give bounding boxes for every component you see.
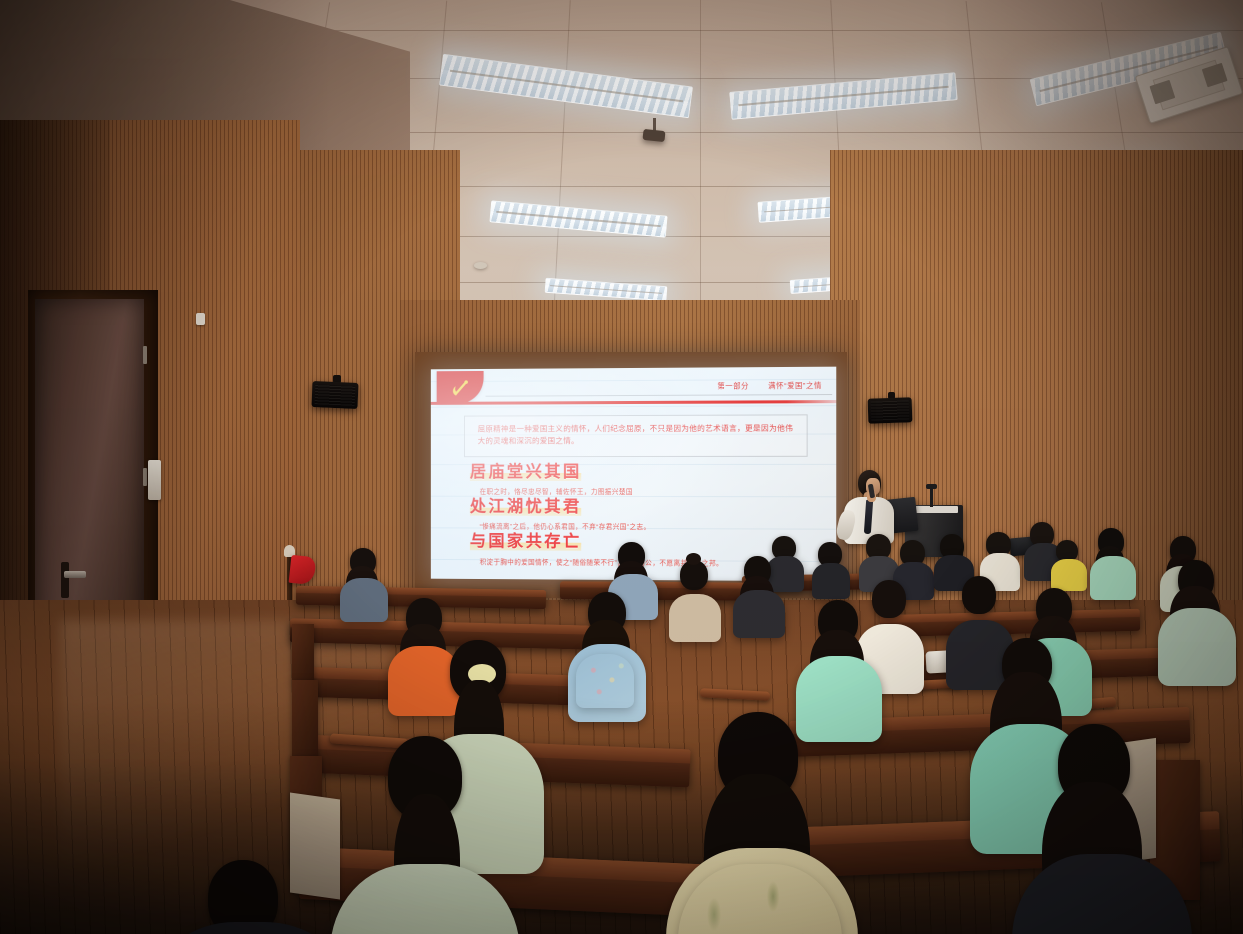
light-switch-panel[interactable] [148, 460, 161, 500]
slide-detail-2-wrap: “惨痛流离”之后，他仍心系君国，不弃“存君兴国”之志。 [480, 521, 651, 532]
smoke-detector [474, 262, 487, 269]
cpc-hammer-sickle-emblem [437, 371, 484, 404]
slide-point-2: 处江湖忧其君 [470, 498, 582, 517]
slide-header-rule-thin [486, 394, 833, 397]
slide-detail-2: “惨痛流离”之后，他仍心系君国，不弃“存君兴国”之志。 [480, 521, 651, 532]
wall-speaker-right [868, 397, 913, 424]
slide-section-label: 第一部分 [717, 381, 749, 391]
podium-mic-stem [930, 487, 933, 507]
bench-end-panel-light [290, 792, 340, 899]
slide-heading-3: 与国家共存亡 [470, 532, 582, 550]
podium-control-surface [910, 506, 958, 513]
slide-section-title: 满怀“爱国”之情 [768, 381, 822, 391]
slide-header: 第一部分 满怀“爱国”之情 [717, 381, 821, 392]
wall-speaker-left [311, 381, 358, 409]
ceiling-projector [642, 129, 665, 142]
slide-point-3: 与国家共存亡 [470, 532, 582, 551]
podium-mic-head [926, 484, 937, 489]
lecture-hall-photo: 第一部分 满怀“爱国”之情 屈原精神是一种爱国主义的情怀，人们纪念屈原，不只是因… [0, 0, 1243, 934]
slide-detail-1: 在职之时，恪尽忠尽智，辅佐怀王，力图振兴楚国 [480, 486, 633, 496]
slide-heading-2: 处江湖忧其君 [470, 498, 582, 516]
wall-outlet-plate [196, 313, 205, 325]
slide-quote-box: 屈原精神是一种爱国主义的情怀，人们纪念屈原，不只是因为他的艺术语言，更是因为他伟… [464, 414, 808, 456]
door-lock-escutcheon [61, 562, 69, 598]
slide-header-rule [431, 400, 836, 405]
slide-point-1: 居庙堂兴其国 [470, 463, 582, 482]
door-handle[interactable] [64, 571, 86, 578]
bench-end-panel [292, 680, 318, 760]
slide-detail-1-wrap: 在职之时，恪尽忠尽智，辅佐怀王，力图振兴楚国 [480, 486, 633, 496]
slide-quote-text: 屈原精神是一种爱国主义的情怀，人们纪念屈原，不只是因为他的艺术语言，更是因为他伟… [478, 422, 798, 447]
slide-heading-1: 居庙堂兴其国 [470, 463, 582, 481]
bench-end-panel [292, 624, 314, 682]
